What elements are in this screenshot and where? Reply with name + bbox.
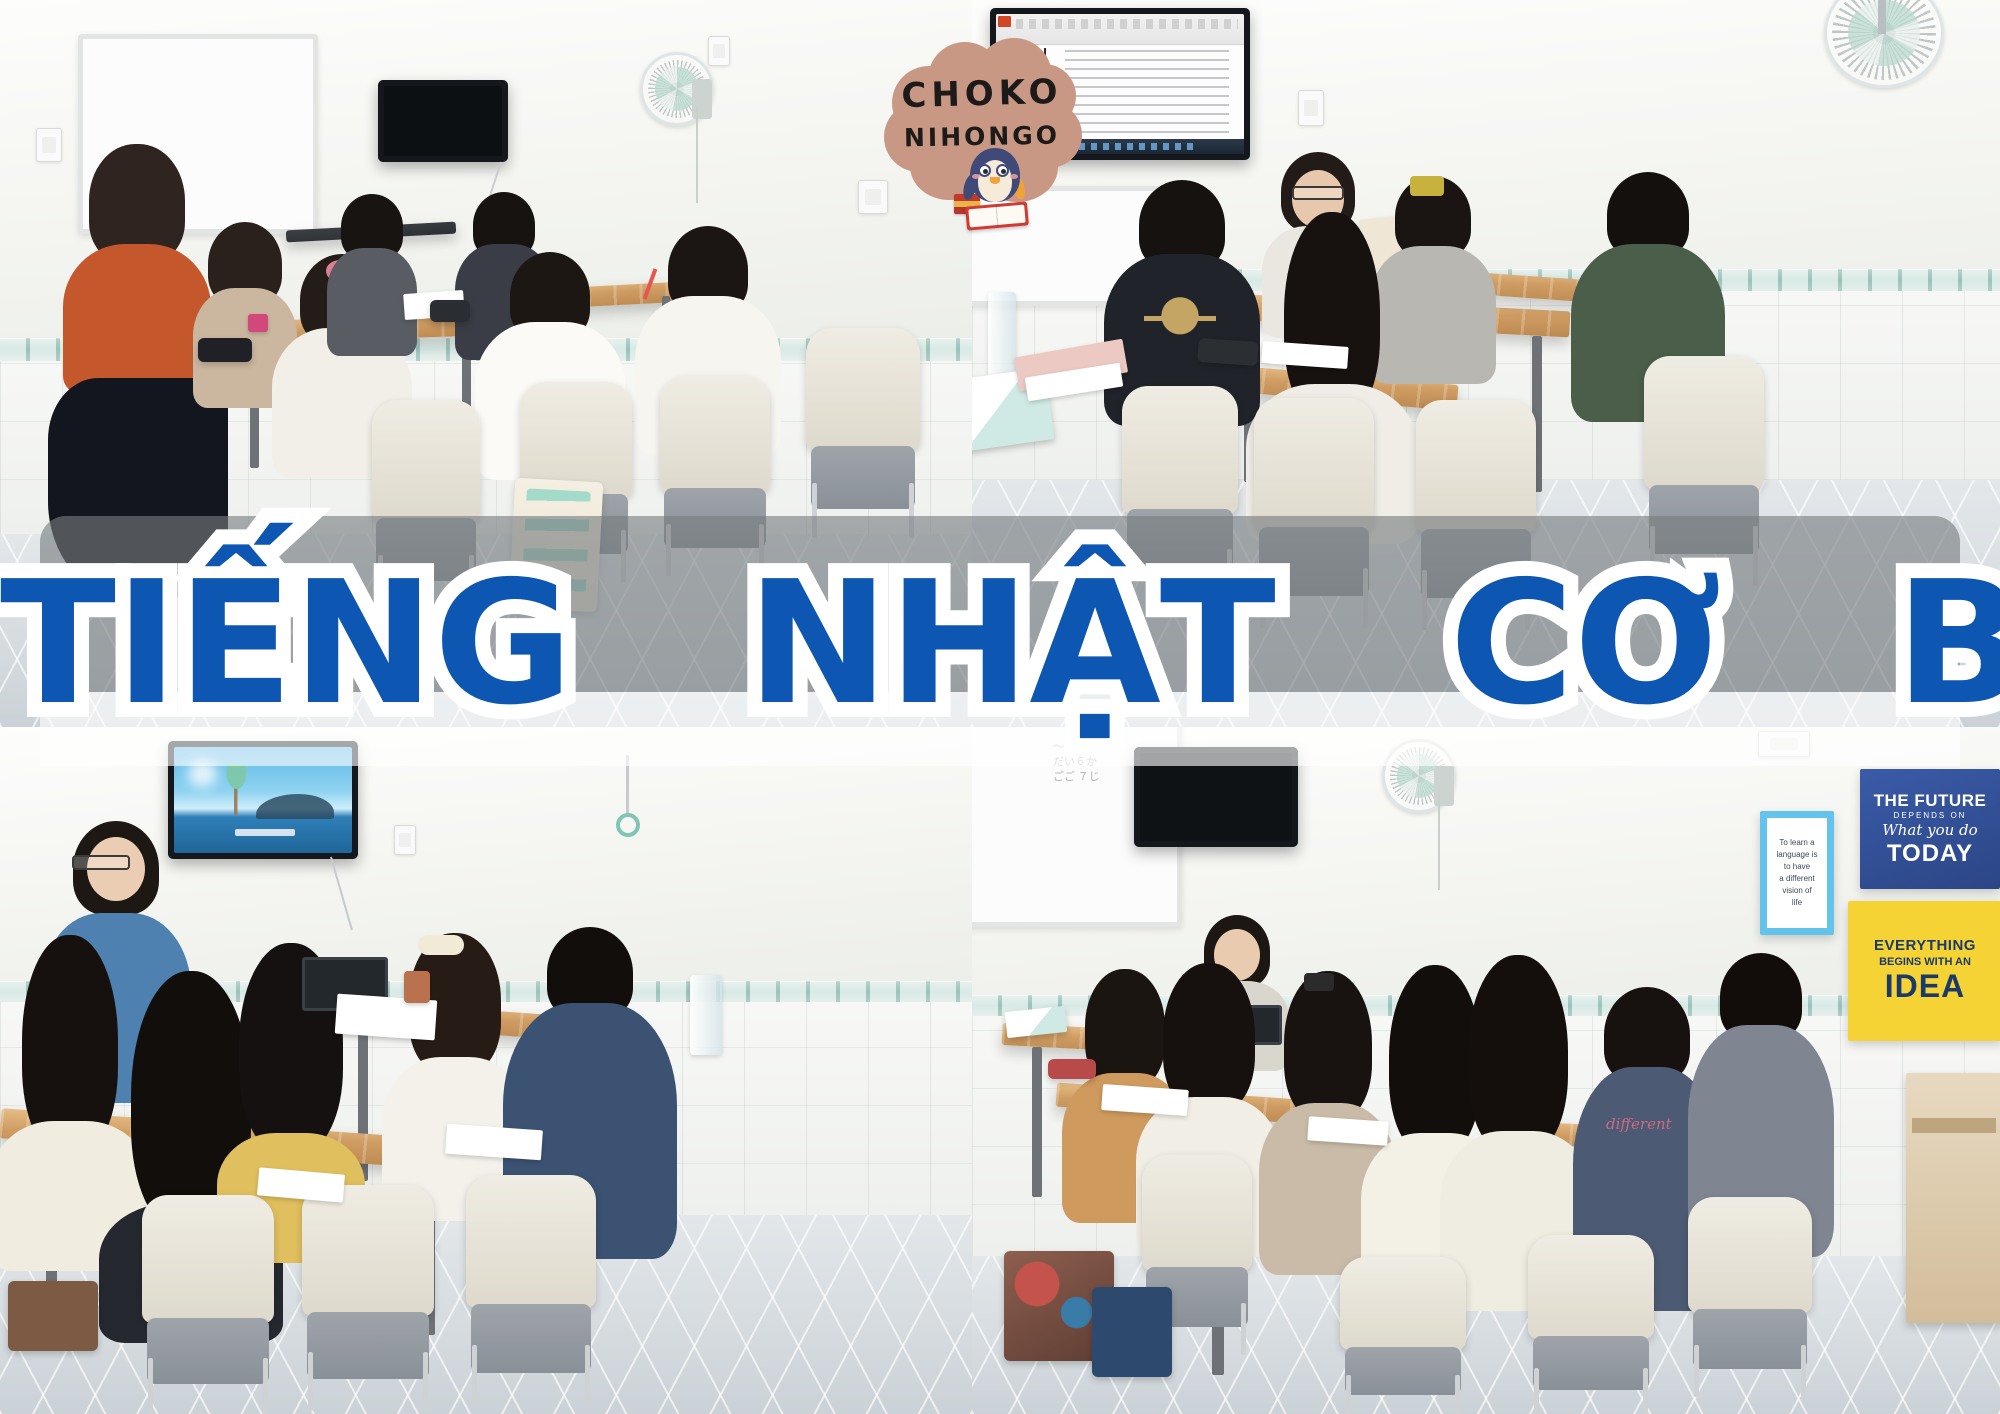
poster-line: life <box>1792 897 1802 909</box>
poster-line: THE FUTURE <box>1874 792 1987 810</box>
headline-space <box>1333 560 1391 728</box>
folding-chair <box>1528 1235 1654 1414</box>
poster-line: TODAY <box>1887 841 1973 866</box>
classroom-scene-4: 〜ています だい６か ごご ７じ THE FUTURE DEPENDS ON W… <box>972 727 2000 1414</box>
poster-line: vision of <box>1782 885 1811 897</box>
desk-leg <box>1032 1047 1042 1197</box>
hanging-ring <box>616 813 640 837</box>
tv-screen <box>1140 753 1292 841</box>
poster-root: 〜ています だい６か ごご ７じ THE FUTURE DEPENDS ON W… <box>0 0 2000 1414</box>
coffee-cup <box>404 971 430 1003</box>
bookshelf <box>1906 1073 2000 1323</box>
poster-line: To learn a <box>1779 837 1814 849</box>
backpack <box>8 1281 98 1351</box>
poster-line: IDEA <box>1885 970 1965 1004</box>
light-switch-plate <box>708 36 730 66</box>
folding-chair <box>1688 1197 1812 1397</box>
torso <box>63 244 211 394</box>
headline-word-4: BẢN <box>1895 560 2000 728</box>
wall-fan <box>640 52 714 126</box>
page-title: TIẾNG NHẬT CƠ BẢN <box>0 560 2000 728</box>
poster-line: What you do <box>1882 823 1977 839</box>
open-book-icon <box>965 201 1029 230</box>
power-socket-plate <box>1298 90 1324 126</box>
fan-mount <box>1878 0 1886 34</box>
poster-line: language is <box>1777 849 1818 861</box>
hair-clip <box>1304 973 1334 991</box>
eyeglasses <box>72 855 130 870</box>
hair-clip <box>1410 176 1444 196</box>
shirt-graphic <box>1144 290 1216 376</box>
headline-word-2: NHẬT <box>747 560 1275 728</box>
logo-title-line1: CHOKO <box>884 71 1081 116</box>
pouch <box>430 300 470 322</box>
wall-tv <box>378 80 508 162</box>
shirt-print: different <box>1606 1115 1696 1171</box>
water-bottle <box>988 292 1016 378</box>
folding-chair <box>806 328 920 538</box>
poster-line: DEPENDS ON <box>1894 812 1967 820</box>
folding-chair <box>466 1175 596 1405</box>
pencil-case <box>1048 1059 1096 1079</box>
tablet <box>1197 338 1259 366</box>
poster-line: to have <box>1784 861 1810 873</box>
hair-band <box>418 935 464 955</box>
classroom-scene-3 <box>0 727 972 1414</box>
pencil-case <box>198 338 252 362</box>
hair <box>1468 955 1568 1155</box>
poster-everything-idea: EVERYTHING BEGINS WITH AN IDEA <box>1848 901 2000 1041</box>
drink-cup <box>248 314 268 332</box>
headline-word-3: CƠ <box>1449 560 1720 728</box>
folding-chair <box>1340 1257 1466 1414</box>
shirt-print <box>672 336 742 362</box>
water-tumbler <box>690 975 722 1055</box>
choko-nihongo-logo: CHOKO NIHONGO <box>884 28 1080 224</box>
headline-space <box>630 560 688 728</box>
penguin-reading-book-icon <box>954 144 1040 230</box>
poster-the-future: THE FUTURE DEPENDS ON What you do TODAY <box>1860 769 2000 889</box>
hair <box>1284 971 1372 1121</box>
tv-screen <box>384 86 502 156</box>
poster-line: BEGINS WITH AN <box>1879 957 1971 969</box>
headline-space <box>1779 560 1837 728</box>
folding-chair <box>142 1195 274 1414</box>
panel-bottom-right: 〜ています だい６か ごご ７じ THE FUTURE DEPENDS ON W… <box>972 727 2000 1414</box>
poster-line: a different <box>1779 873 1814 885</box>
power-socket-plate <box>394 825 416 855</box>
headline-word-1: TIẾNG <box>0 560 572 728</box>
person-student <box>326 194 418 344</box>
folding-chair <box>302 1185 434 1411</box>
poster-learn-language: To learn a language is to have a differe… <box>1760 811 1834 935</box>
panel-bottom-left <box>0 727 972 1414</box>
eyeglasses <box>1292 186 1344 200</box>
poster-line: EVERYTHING <box>1874 938 1976 954</box>
backpack <box>1092 1287 1172 1377</box>
